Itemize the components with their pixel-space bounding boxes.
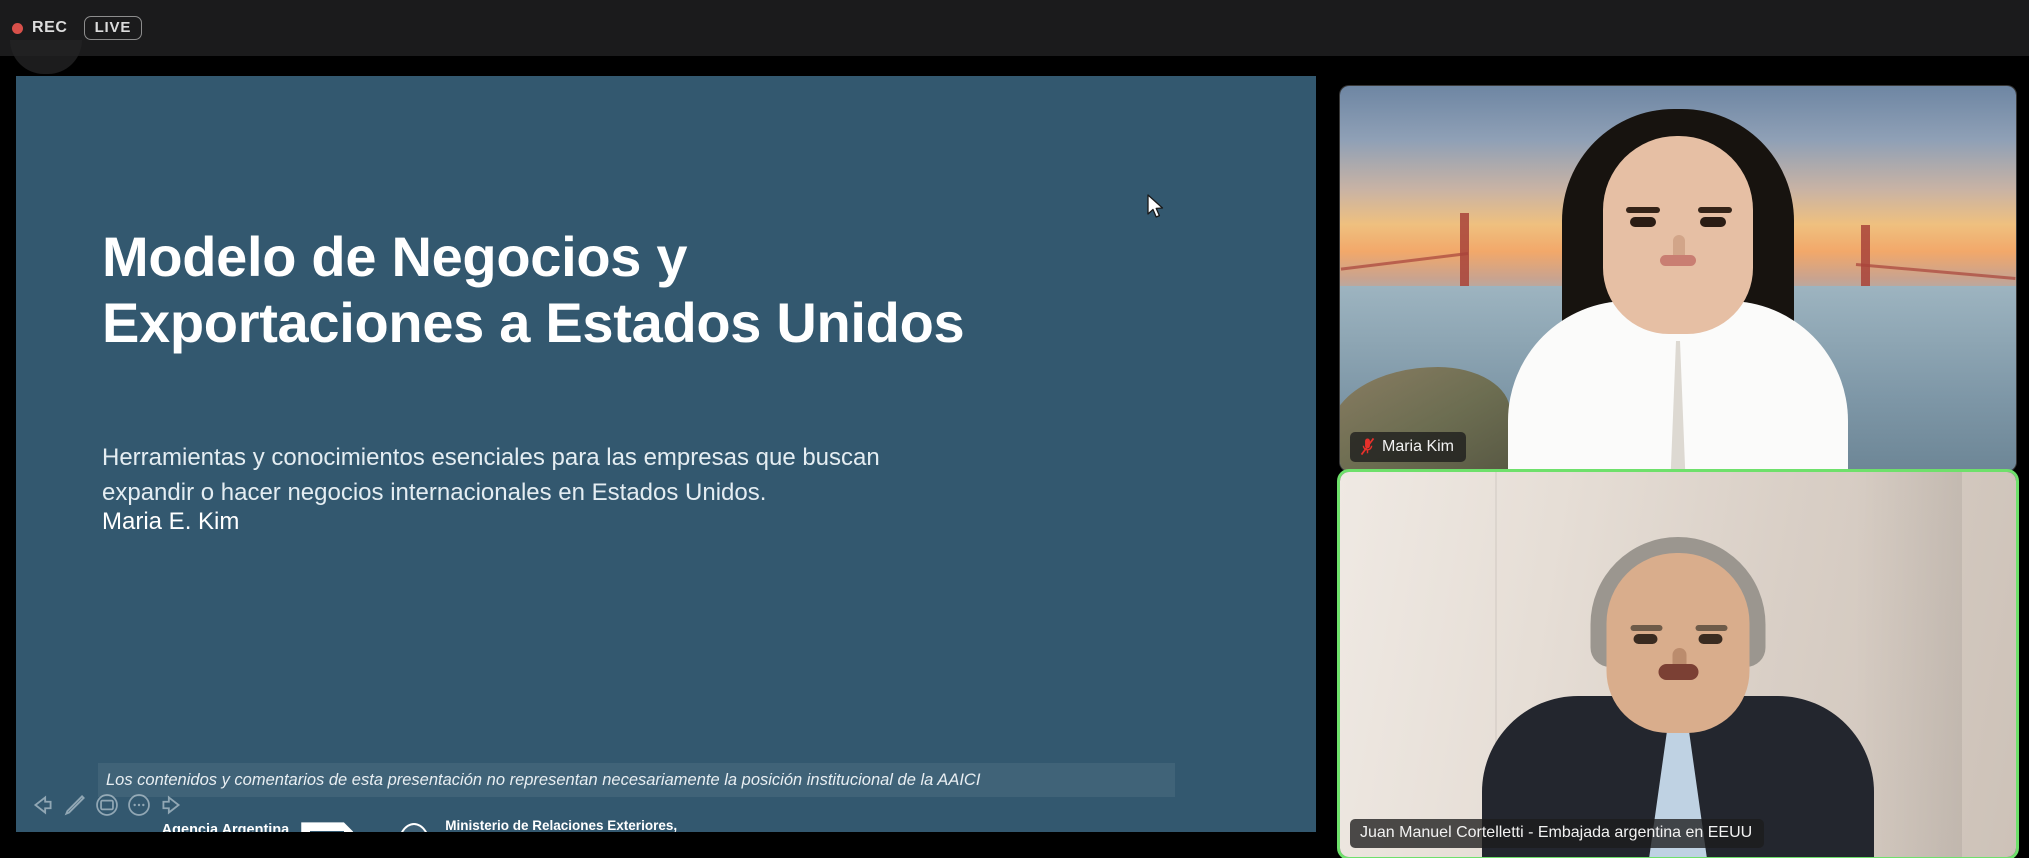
bridge-cable-right (1856, 263, 2016, 280)
slide-logos: Agencia Argentina de Inversiones y Comer… (116, 818, 677, 832)
logo-ministry-text: Ministerio de Relaciones Exteriores, Com… (445, 818, 677, 832)
slide-title-line-1: Modelo de Negocios y (102, 224, 1182, 290)
top-status-bar: REC LIVE (0, 0, 2029, 56)
participant-video-feed (1340, 472, 2016, 857)
logo-ministry-line-1: Ministerio de Relaciones Exteriores, (445, 818, 677, 832)
logo-ministry: Ministerio de Relaciones Exteriores, Com… (397, 818, 677, 832)
right-gutter (2016, 56, 2029, 858)
ellipsis-icon[interactable] (126, 792, 152, 818)
person-eye-left (1633, 634, 1657, 644)
person-brow-left (1630, 625, 1662, 631)
window-notch (10, 40, 82, 74)
arrow-right-icon[interactable] (158, 792, 184, 818)
slide-subtitle-line-2: expandir o hacer negocios internacionale… (102, 476, 1052, 511)
person-brow-right (1695, 625, 1727, 631)
slide-title: Modelo de Negocios y Exportaciones a Est… (102, 224, 1182, 355)
argentina-coat-of-arms-icon (397, 823, 431, 832)
logo-aaici: Agencia Argentina de Inversiones y Comer… (116, 821, 353, 832)
person-eye-right (1698, 634, 1722, 644)
bridge-cable-left (1341, 252, 1468, 271)
recording-label: REC (32, 19, 68, 37)
participant-name-chip: Maria Kim (1350, 432, 1466, 462)
participant-video-feed (1340, 86, 2016, 471)
slide-subtitle: Herramientas y conocimientos esenciales … (102, 441, 1052, 510)
participant-name-label: Juan Manuel Cortelletti - Embajada argen… (1360, 824, 1752, 842)
logo-aaici-line-1: Agencia Argentina (116, 821, 289, 832)
person-eye-left (1630, 217, 1656, 227)
participant-tile-juan-manuel-cortelletti[interactable]: Juan Manuel Cortelletti - Embajada argen… (1340, 472, 2016, 857)
recording-indicator: REC (12, 19, 68, 37)
video-call-screen: REC LIVE Modelo de Negocios y Exportacio… (0, 0, 2029, 858)
slide-content: Modelo de Negocios y Exportaciones a Est… (16, 76, 1316, 832)
mic-off-icon (1360, 437, 1375, 456)
participant-tile-maria-kim[interactable]: Maria Kim (1340, 86, 2016, 471)
participant-name-chip: Juan Manuel Cortelletti - Embajada argen… (1350, 819, 1764, 848)
slide-disclaimer: Los contenidos y comentarios de esta pre… (98, 763, 1175, 797)
slide-title-line-2: Exportaciones a Estados Unidos (102, 290, 1182, 356)
live-badge: LIVE (84, 16, 143, 40)
person-collar (1658, 341, 1698, 471)
slide-author: Maria E. Kim (102, 508, 239, 536)
person-face (1603, 136, 1753, 334)
person-face (1607, 553, 1750, 733)
pen-icon[interactable] (62, 792, 88, 818)
person-mouth (1658, 664, 1698, 680)
participant-name-label: Maria Kim (1382, 438, 1454, 456)
logo-ar-text: ar (310, 831, 344, 832)
display-icon[interactable] (94, 792, 120, 818)
person-brow-right (1698, 207, 1732, 213)
logo-ar-mark-icon: ar (301, 822, 353, 832)
person-mouth (1660, 255, 1696, 266)
shared-screen-slide[interactable]: Modelo de Negocios y Exportaciones a Est… (16, 76, 1316, 832)
slide-subtitle-line-1: Herramientas y conocimientos esenciales … (102, 441, 1052, 476)
person-brow-left (1626, 207, 1660, 213)
arrow-left-icon[interactable] (30, 792, 56, 818)
record-dot-icon (12, 23, 23, 34)
person-eye-right (1700, 217, 1726, 227)
logo-aaici-text: Agencia Argentina de Inversiones y Comer… (116, 821, 289, 832)
presentation-controls (30, 792, 184, 818)
